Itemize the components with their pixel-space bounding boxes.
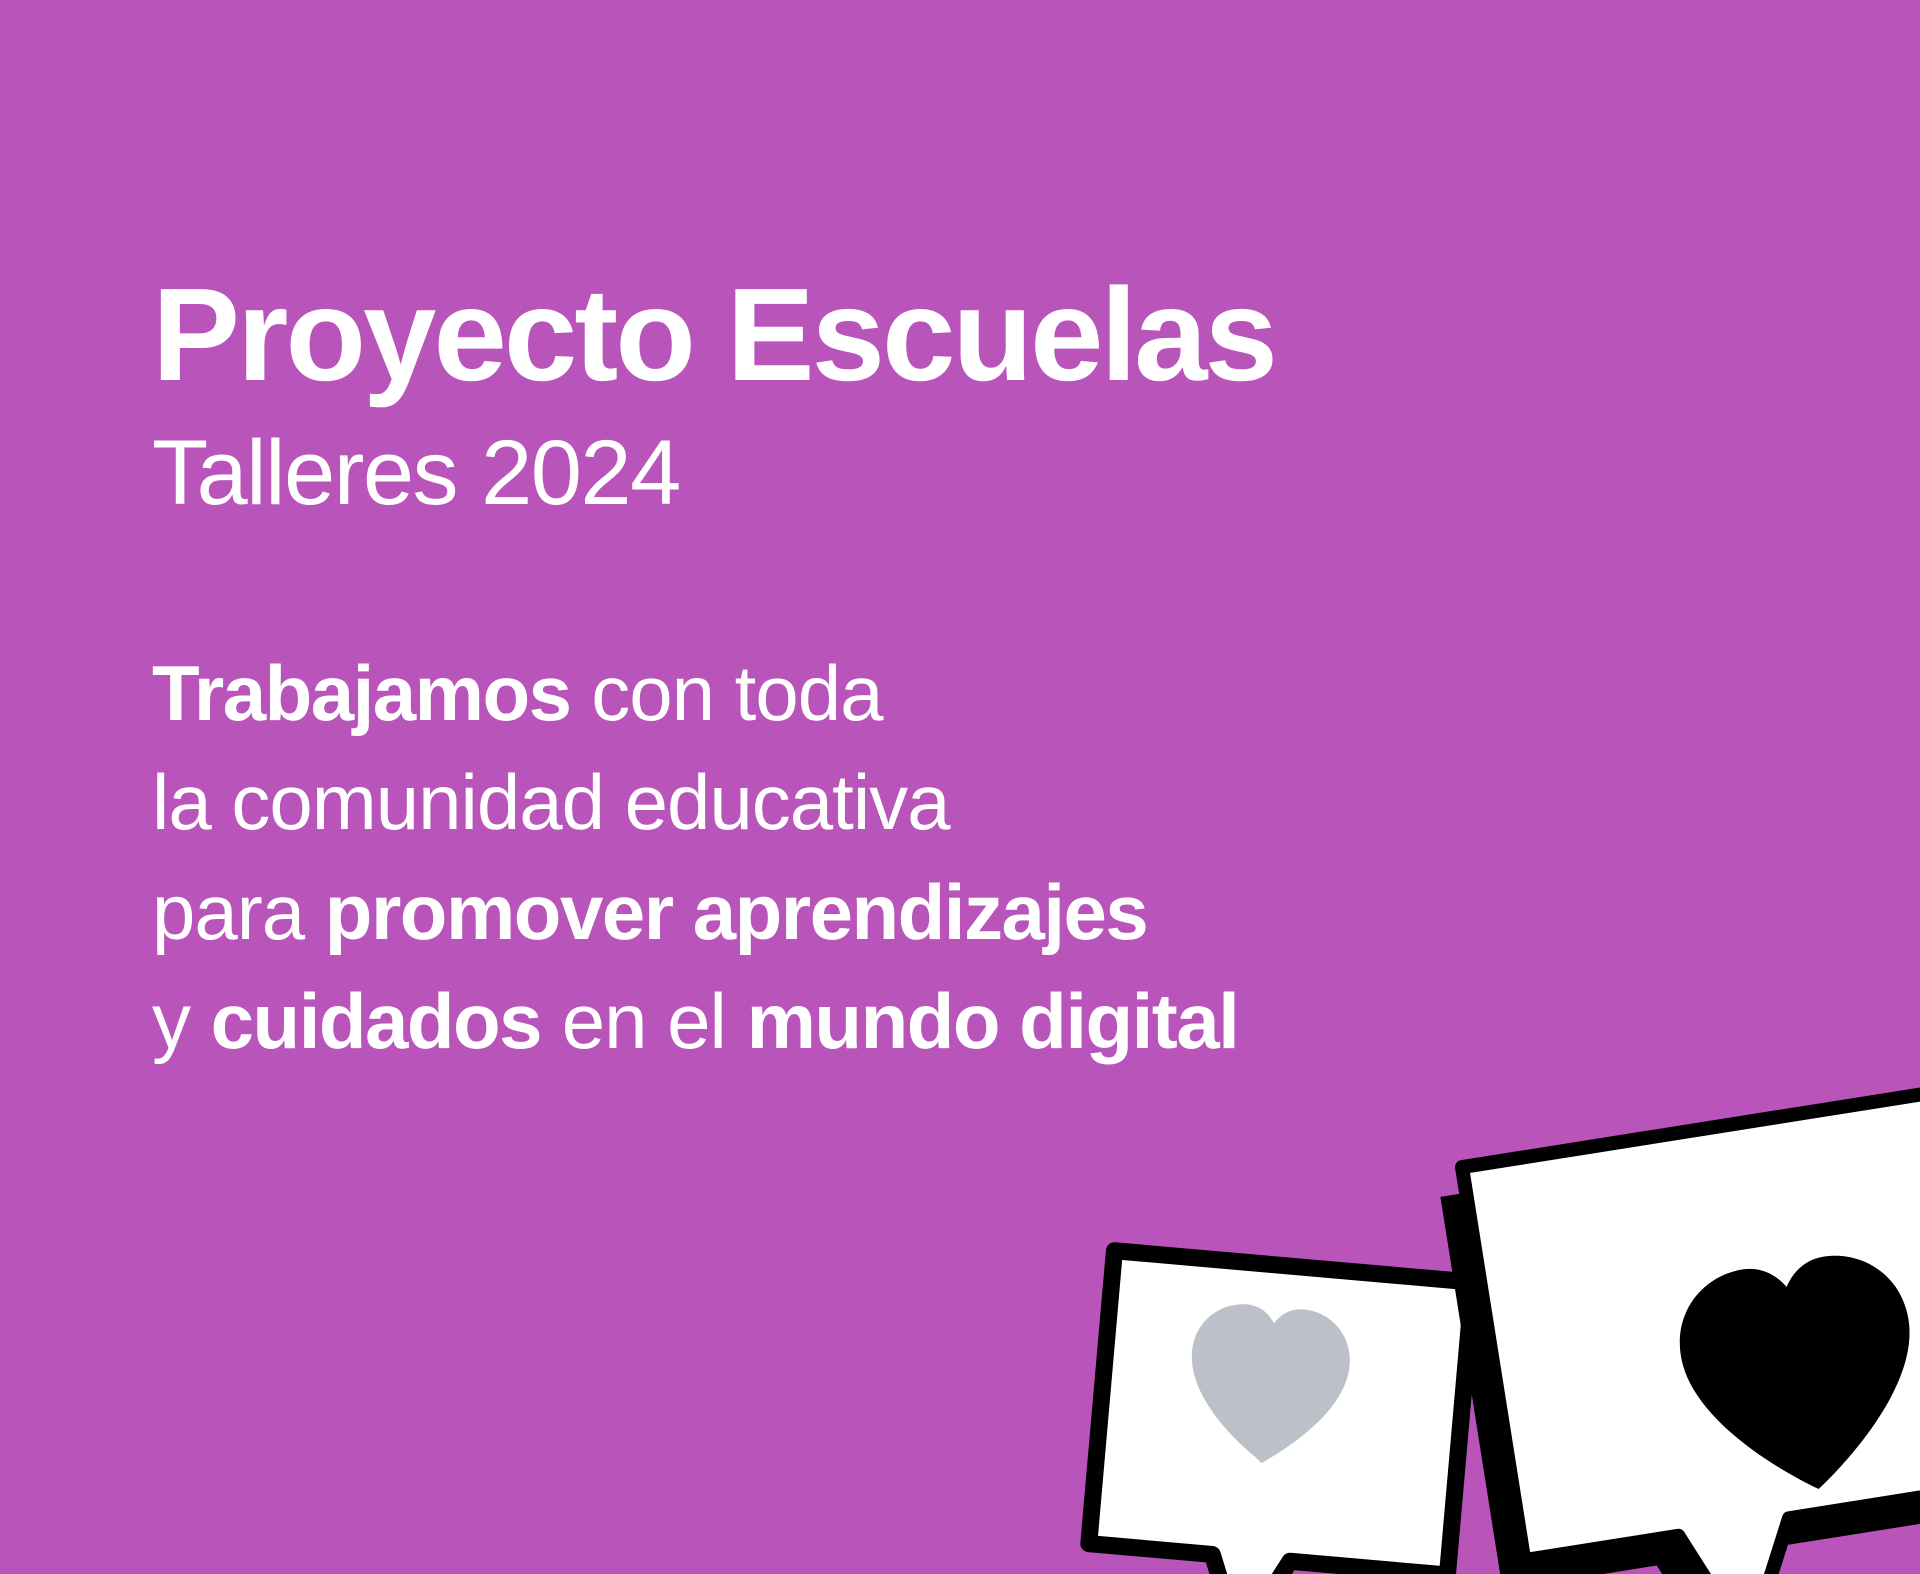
body-line-1-bold: Trabajamos bbox=[152, 649, 571, 737]
body-line-4-regular-b: en el bbox=[541, 977, 746, 1065]
poster-canvas: Proyecto Escuelas Talleres 2024 Trabajam… bbox=[0, 0, 1920, 1574]
body-paragraph: Trabajamos con toda la comunidad educati… bbox=[152, 639, 1552, 1076]
speech-bubble-large-shadow bbox=[1440, 1119, 1920, 1574]
heart-icon-grey bbox=[1183, 1300, 1354, 1470]
body-line-1-regular: con toda bbox=[571, 649, 883, 737]
body-line-2: la comunidad educativa bbox=[152, 748, 1552, 857]
body-line-4-bold-a: cuidados bbox=[211, 977, 541, 1065]
body-line-3-regular: para bbox=[152, 868, 325, 956]
body-line-4: y cuidados en el mundo digital bbox=[152, 967, 1552, 1076]
text-block: Proyecto Escuelas Talleres 2024 Trabajam… bbox=[152, 268, 1552, 1076]
body-line-3-bold: promover aprendizajes bbox=[325, 868, 1147, 956]
page-title: Proyecto Escuelas bbox=[152, 268, 1552, 403]
page-subtitle: Talleres 2024 bbox=[152, 425, 1552, 522]
body-line-2-regular: la comunidad educativa bbox=[152, 758, 950, 846]
body-line-4-regular-a: y bbox=[152, 977, 211, 1065]
speech-bubble-large-shape bbox=[1462, 1089, 1920, 1574]
speech-bubble-large bbox=[1436, 1089, 1920, 1574]
body-line-3: para promover aprendizajes bbox=[152, 858, 1552, 967]
body-line-1: Trabajamos con toda bbox=[152, 639, 1552, 748]
heart-icon-black bbox=[1669, 1245, 1920, 1507]
speech-bubble-small-shape bbox=[1081, 1251, 1473, 1574]
body-line-4-bold-b: mundo digital bbox=[747, 977, 1239, 1065]
speech-bubble-small bbox=[1081, 1251, 1473, 1574]
